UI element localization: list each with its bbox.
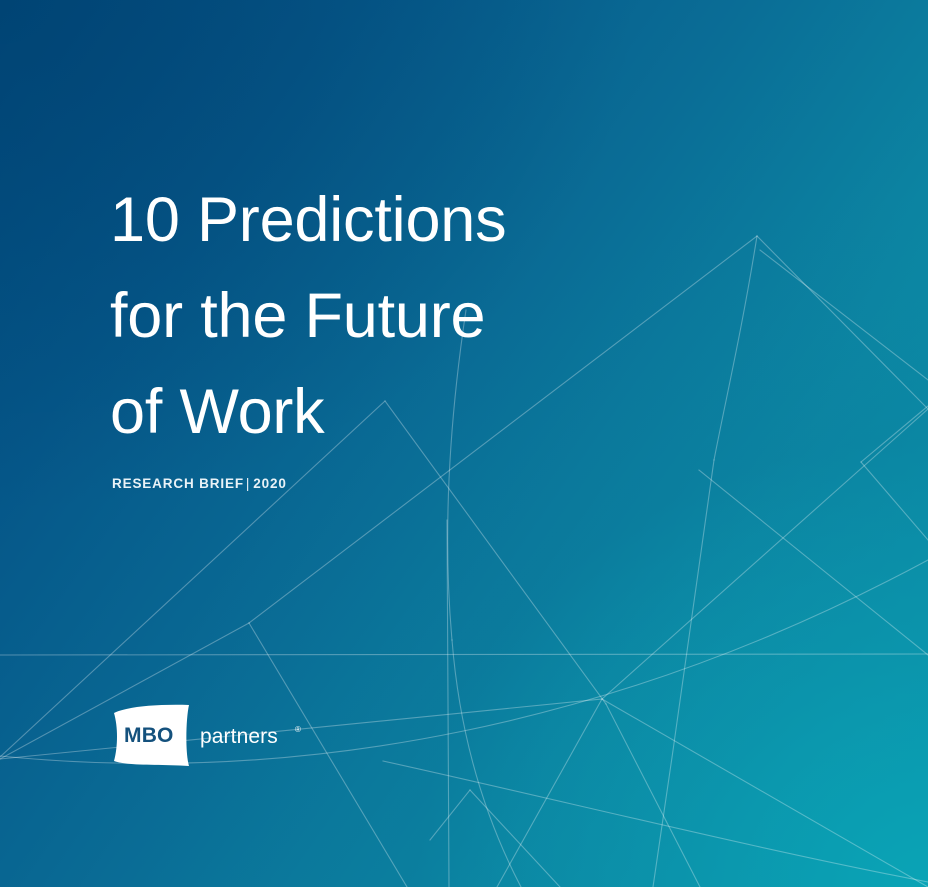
subtitle-separator: | <box>244 476 253 491</box>
subtitle-year: 2020 <box>253 476 286 491</box>
logo-trademark-symbol: ® <box>295 726 301 734</box>
mbo-partners-logo: MBO partners ® <box>110 704 360 768</box>
cover-subtitle: RESEARCH BRIEF|2020 <box>112 476 287 491</box>
logo-mark-text: MBO <box>124 724 174 748</box>
report-cover-page: 10 Predictions for the Future of Work RE… <box>0 0 928 887</box>
logo-word-text: partners <box>200 725 278 749</box>
page-title: 10 Predictions for the Future of Work <box>110 172 730 460</box>
subtitle-label: RESEARCH BRIEF <box>112 476 244 491</box>
